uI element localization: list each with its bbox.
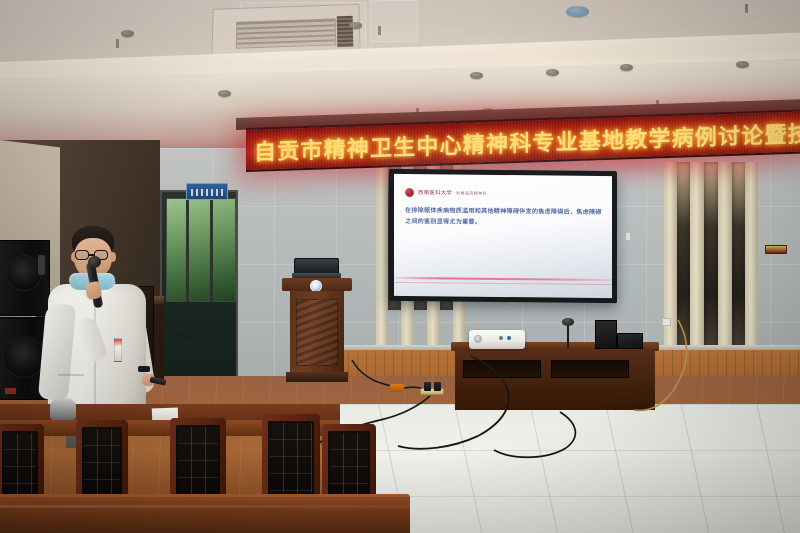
wall-notice-sign [765, 245, 787, 254]
scene-root: 自贡市精神卫生中心精神科专业基地教学病例讨论暨技能培i 西南医科大学 附属医院精… [0, 0, 800, 533]
sprinkler-icon [378, 26, 381, 35]
podium-base [286, 372, 348, 382]
projector-lens-icon [474, 335, 482, 343]
chair-backrest-pad [176, 425, 220, 497]
mirror-strip [732, 162, 746, 350]
av-table-cubby [551, 360, 629, 378]
wall-outlet[interactable] [625, 232, 631, 241]
av-equipment-table [455, 348, 655, 410]
audience-chair[interactable] [170, 418, 226, 500]
wall-pilaster [745, 162, 758, 350]
audience-chair[interactable] [322, 424, 376, 504]
window-glass [166, 198, 236, 302]
chair-backrest-pad [2, 431, 38, 499]
ceiling-speaker-icon [470, 72, 483, 79]
speaker-cone-icon [6, 255, 42, 291]
desk-ornament [50, 398, 76, 420]
av-table-cubby [463, 360, 541, 378]
glasses-lens-icon [75, 250, 89, 260]
wall-outlet[interactable] [662, 318, 671, 326]
laptop-screen [294, 258, 339, 274]
blue-wall-plaque [186, 183, 228, 200]
ceiling-speaker-icon [546, 69, 559, 76]
chair-backrest-pad [328, 431, 370, 501]
mirror-strip [676, 162, 690, 350]
coat-pocket [58, 374, 84, 376]
projector[interactable] [469, 330, 525, 349]
audience-chair[interactable] [76, 420, 128, 500]
presenter-wristwatch [138, 366, 150, 372]
doorway-with-window[interactable] [160, 190, 238, 380]
sprinkler-icon [116, 39, 119, 48]
power-adapter [390, 384, 404, 392]
window-mullion [186, 198, 189, 302]
podium-laptop[interactable] [292, 258, 341, 280]
slide-body-text: 在排除躯体疾病物质滥用和其他精神障碍伴发的焦虑障碍后，焦虑障碍之间的鉴别显得尤为… [405, 205, 602, 229]
chair-backrest-pad [268, 421, 314, 495]
wall-pilaster [718, 162, 732, 350]
lectern-podium[interactable] [286, 278, 348, 382]
projector-button[interactable] [499, 336, 503, 340]
slide-university-name: 西南医科大学 [418, 189, 452, 196]
av-equipment-box [595, 320, 617, 349]
projection-screen-surface: 西南医科大学 附属医院精神科 在排除躯体疾病物质滥用和其他精神障碍伴发的焦虑障碍… [394, 174, 612, 298]
ceiling-speaker-icon [121, 30, 134, 37]
speaker-badge [5, 388, 16, 394]
slide-accent-rule [394, 277, 612, 281]
desktop-microphone[interactable] [562, 318, 574, 326]
ac-grille-icon [236, 18, 336, 49]
projection-screen: 西南医科大学 附属医院精神科 在排除躯体疾病物质滥用和其他精神障碍伴发的焦虑障碍… [389, 169, 617, 303]
sprinkler-icon [745, 4, 748, 13]
power-plug [424, 382, 431, 391]
presenter-figure [38, 226, 170, 426]
ceiling-speaker-icon [736, 61, 749, 68]
chair-backrest-pad [82, 427, 122, 497]
slide-accent-rule-thin [394, 282, 612, 285]
university-seal-icon [405, 188, 414, 197]
podium-panel [296, 299, 338, 366]
power-plug [434, 382, 441, 391]
window-mullion [210, 198, 213, 302]
podium-body [290, 291, 344, 374]
ceiling-speaker-icon [218, 90, 231, 97]
av-equipment-box [617, 333, 643, 349]
wall-pilaster [690, 162, 704, 350]
audience-chair[interactable] [0, 424, 44, 502]
presenter-ear [110, 252, 116, 262]
ceiling-speaker-icon [349, 22, 362, 29]
ac-vent-icon [337, 15, 354, 47]
slide-header: 西南医科大学 附属医院精神科 [405, 188, 487, 198]
foreground-table [0, 494, 410, 533]
ceiling-panel [370, 0, 418, 42]
audience-chair[interactable] [262, 414, 320, 498]
ceiling-light-icon [566, 6, 589, 17]
desktop-mic-stand [567, 324, 569, 348]
slide-university-subtitle: 附属医院精神科 [456, 190, 487, 196]
projector-indicator [507, 336, 511, 340]
mirror-strip [704, 162, 718, 350]
ceiling-speaker-icon [620, 64, 633, 71]
presenter-id-badge [114, 338, 122, 362]
wall-pilaster [376, 150, 388, 358]
